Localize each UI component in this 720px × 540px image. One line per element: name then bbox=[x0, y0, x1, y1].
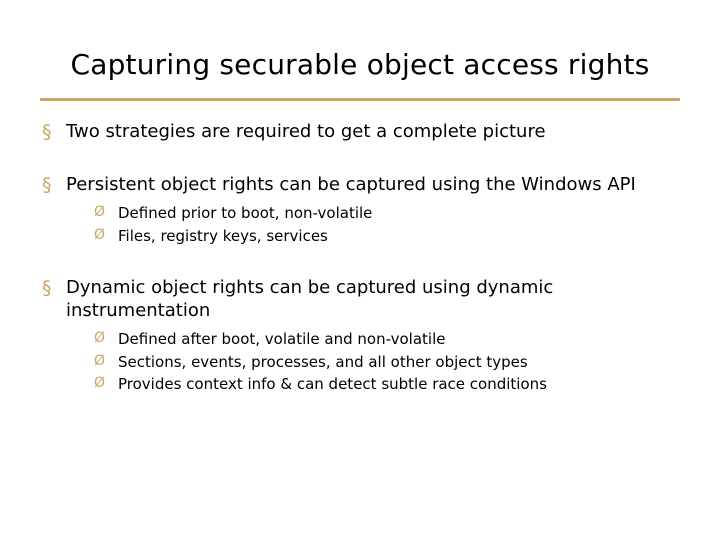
sub-bullet-item: Ø Files, registry keys, services bbox=[92, 225, 688, 248]
sub-bullet-text: Defined prior to boot, non-volatile bbox=[118, 204, 372, 222]
bullet-text: Two strategies are required to get a com… bbox=[66, 121, 546, 142]
arrow-bullet-icon: Ø bbox=[94, 351, 105, 372]
sub-bullet-text: Defined after boot, volatile and non-vol… bbox=[118, 330, 445, 348]
section-bullet-icon: § bbox=[42, 120, 52, 144]
bullet-text: Dynamic object rights can be captured us… bbox=[66, 277, 553, 321]
bullet-text: Persistent object rights can be captured… bbox=[66, 174, 636, 195]
arrow-bullet-icon: Ø bbox=[94, 225, 105, 246]
slide: Capturing securable object access rights… bbox=[0, 0, 720, 540]
sub-bullet-item: Ø Sections, events, processes, and all o… bbox=[92, 351, 688, 374]
section-bullet-icon: § bbox=[42, 276, 52, 300]
sub-bullet-item: Ø Provides context info & can detect sub… bbox=[92, 373, 688, 396]
sub-bullet-text: Provides context info & can detect subtl… bbox=[118, 375, 547, 393]
sub-bullet-list: Ø Defined prior to boot, non-volatile Ø … bbox=[92, 202, 688, 248]
bullet-item: § Persistent object rights can be captur… bbox=[40, 173, 688, 248]
sub-bullet-item: Ø Defined prior to boot, non-volatile bbox=[92, 202, 688, 225]
slide-body: § Two strategies are required to get a c… bbox=[40, 120, 688, 396]
arrow-bullet-icon: Ø bbox=[94, 202, 105, 223]
arrow-bullet-icon: Ø bbox=[94, 373, 105, 394]
arrow-bullet-icon: Ø bbox=[94, 328, 105, 349]
section-bullet-icon: § bbox=[42, 173, 52, 197]
sub-bullet-item: Ø Defined after boot, volatile and non-v… bbox=[92, 328, 688, 351]
bullet-item: § Dynamic object rights can be captured … bbox=[40, 276, 688, 396]
page-title: Capturing securable object access rights bbox=[40, 48, 680, 82]
title-divider bbox=[40, 98, 680, 101]
sub-bullet-text: Files, registry keys, services bbox=[118, 227, 328, 245]
sub-bullet-list: Ø Defined after boot, volatile and non-v… bbox=[92, 328, 688, 396]
bullet-item: § Two strategies are required to get a c… bbox=[40, 120, 688, 143]
sub-bullet-text: Sections, events, processes, and all oth… bbox=[118, 353, 528, 371]
